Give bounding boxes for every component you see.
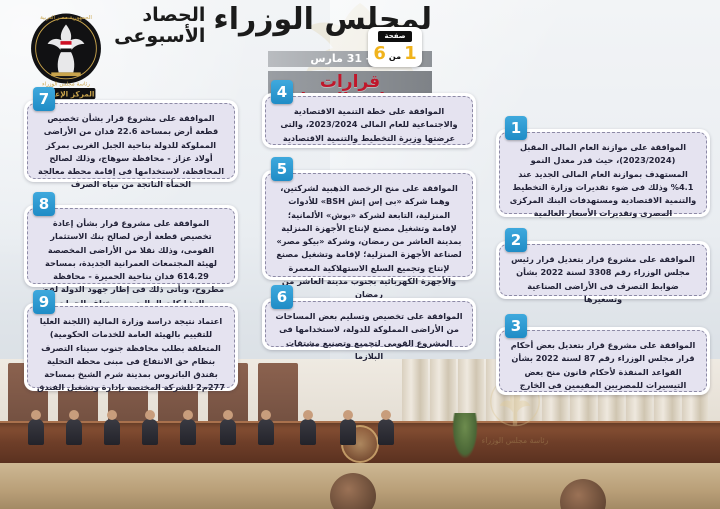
- decision-card-9[interactable]: 9 اعتماد نتيجة دراسة وزارة المالية (اللج…: [24, 303, 238, 391]
- subtitle-line-1: الحصاد: [114, 5, 205, 26]
- card-text-2: الموافقة على مشروع قرار بتعديل قرار رئيس…: [509, 253, 697, 306]
- card-number-badge-7: 7: [33, 87, 55, 111]
- page-subtitle: الحصاد الأسبوعى: [114, 4, 205, 48]
- card-text-3: الموافقة على مشروع قرار بتعديل بعض أحكام…: [509, 339, 697, 392]
- decision-card-4[interactable]: 4 الموافقة على خطة التنمية الاقتصادية وا…: [262, 93, 476, 148]
- card-number-badge-8: 8: [33, 192, 55, 216]
- card-number-badge-4: 4: [271, 80, 293, 104]
- decision-card-7[interactable]: 7 الموافقة على مشروع قرار بشأن تخصيص قطع…: [24, 100, 238, 182]
- page-separator: من: [389, 52, 401, 61]
- page-indicator: صفحة 1 من 6: [368, 27, 422, 67]
- infographic-page: رئاسة مجلس الوزراء الجمهورية مصر العربية…: [0, 0, 720, 509]
- card-number-badge-1: 1: [505, 116, 527, 140]
- card-inner-1: الموافقة على موازنة العام المالى المقبل …: [499, 132, 707, 214]
- card-number-badge-3: 3: [505, 314, 527, 338]
- card-inner-3: الموافقة على مشروع قرار بتعديل بعض أحكام…: [499, 330, 707, 392]
- card-number-badge-9: 9: [33, 290, 55, 314]
- card-text-1: الموافقة على موازنة العام المالى المقبل …: [509, 141, 697, 221]
- card-inner-9: اعتماد نتيجة دراسة وزارة المالية (اللجنة…: [27, 306, 235, 388]
- section-title-line-1: قرارات: [320, 73, 380, 91]
- card-text-8: الموافقة على مشروع قرار بشأن إعادة تخصيص…: [37, 217, 225, 310]
- card-number-badge-5: 5: [271, 157, 293, 181]
- decision-card-5[interactable]: 5 الموافقة على منح الرخصة الذهبية لشركتي…: [262, 170, 476, 280]
- card-text-7: الموافقة على مشروع قرار بشأن تخصيص قطعة …: [37, 112, 225, 192]
- card-inner-6: الموافقة على تخصيص وتسليم بعض المساحات م…: [265, 301, 473, 347]
- page-total: 6: [373, 43, 386, 64]
- decision-card-6[interactable]: 6 الموافقة على تخصيص وتسليم بعض المساحات…: [262, 298, 476, 350]
- card-text-6: الموافقة على تخصيص وتسليم بعض المساحات م…: [275, 310, 463, 363]
- card-number-badge-2: 2: [505, 228, 527, 252]
- card-number-badge-6: 6: [271, 285, 293, 309]
- decision-card-3[interactable]: 3 الموافقة على مشروع قرار بتعديل بعض أحك…: [496, 327, 710, 395]
- decision-card-2[interactable]: 2 الموافقة على مشروع قرار بتعديل قرار رئ…: [496, 241, 710, 299]
- subtitle-line-2: الأسبوعى: [114, 26, 205, 47]
- decision-card-1[interactable]: 1 الموافقة على موازنة العام المالى المقب…: [496, 129, 710, 217]
- card-inner-2: الموافقة على مشروع قرار بتعديل قرار رئيس…: [499, 244, 707, 296]
- card-inner-8: الموافقة على مشروع قرار بشأن إعادة تخصيص…: [27, 208, 235, 284]
- decision-card-8[interactable]: 8 الموافقة على مشروع قرار بشأن إعادة تخص…: [24, 205, 238, 287]
- card-inner-4: الموافقة على خطة التنمية الاقتصادية والا…: [265, 96, 473, 145]
- card-text-5: الموافقة على منح الرخصة الذهبية لشركتين،…: [275, 182, 463, 302]
- card-inner-5: الموافقة على منح الرخصة الذهبية لشركتين،…: [265, 173, 473, 277]
- page-current: 1: [404, 43, 417, 64]
- page-indicator-numbers: 1 من 6: [373, 43, 416, 64]
- card-inner-7: الموافقة على مشروع قرار بشأن تخصيص قطعة …: [27, 103, 235, 179]
- card-text-4: الموافقة على خطة التنمية الاقتصادية والا…: [275, 105, 463, 145]
- card-text-9: اعتماد نتيجة دراسة وزارة المالية (اللجنة…: [37, 315, 225, 395]
- page-indicator-caption: صفحة: [378, 31, 411, 42]
